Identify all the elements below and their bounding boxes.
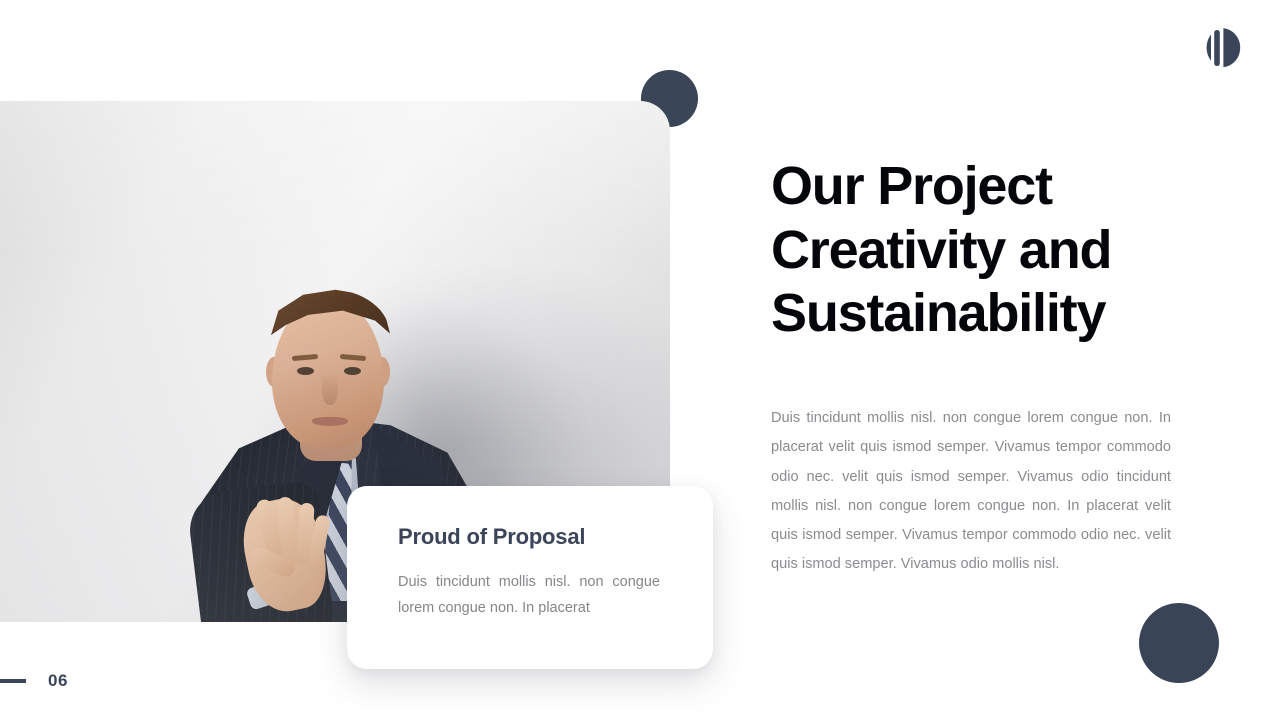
page-title: Our Project Creativity and Sustainabilit… <box>771 155 1171 346</box>
body-paragraph: Duis tincidunt mollis nisl. non congue l… <box>771 404 1171 579</box>
card-description: Duis tincidunt mollis nisl. non congue l… <box>398 570 660 621</box>
striped-circle-logo-icon <box>1201 26 1243 70</box>
navy-circle-bottom-decoration <box>1139 603 1219 683</box>
content-column: Our Project Creativity and Sustainabilit… <box>771 155 1171 579</box>
presentation-slide: Proud of Proposal Duis tincidunt mollis … <box>0 0 1280 720</box>
page-number: 06 <box>48 671 68 691</box>
footer: 06 <box>0 671 68 691</box>
info-card: Proud of Proposal Duis tincidunt mollis … <box>347 486 713 669</box>
footer-dash <box>0 679 26 683</box>
card-title: Proud of Proposal <box>398 524 679 550</box>
